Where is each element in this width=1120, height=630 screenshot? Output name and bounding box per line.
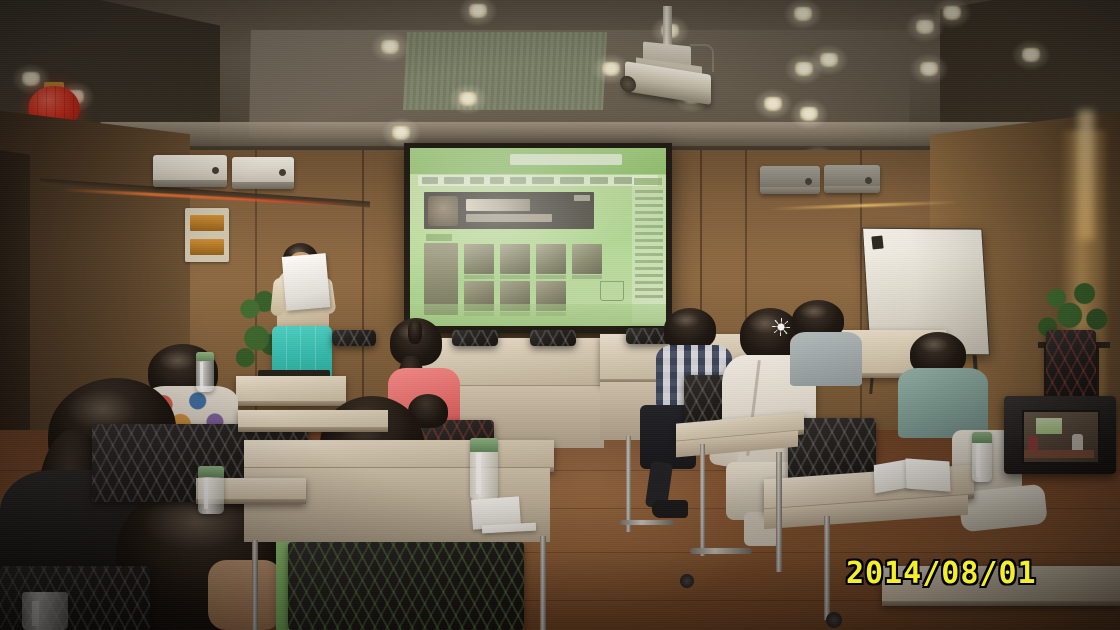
banner-headline: [466, 199, 530, 211]
desk-leg: [776, 452, 782, 572]
chair-front-green[interactable]: [288, 542, 524, 630]
water-bottle-center[interactable]: [470, 438, 498, 500]
chair-caster: [826, 612, 842, 628]
nav-item[interactable]: [444, 177, 464, 184]
camera-date-stamp: 2014/08/01: [846, 556, 1037, 591]
right-wall-light-fixture: [1078, 110, 1094, 240]
sidebar-row[interactable]: [635, 232, 663, 235]
ceiling-spot-light: [820, 53, 838, 67]
attendee-hair-partial: [408, 320, 422, 344]
nav-item[interactable]: [532, 177, 554, 184]
bottle-cap: [972, 432, 992, 443]
sidebar-row[interactable]: [635, 225, 663, 228]
sidebar-header: [634, 178, 662, 185]
camera-lcd-content-desk: [1024, 450, 1094, 458]
portrait-thumbnail[interactable]: [572, 244, 602, 274]
nav-item[interactable]: [422, 177, 438, 184]
sidebar-row[interactable]: [635, 253, 663, 256]
sidebar-row[interactable]: [635, 246, 663, 249]
website-section-title: [426, 234, 452, 241]
ceiling-spot-light: [469, 4, 487, 18]
water-bottle-back[interactable]: [196, 352, 214, 392]
ac-unit-left-1: [153, 155, 227, 187]
banner-portrait: [428, 196, 458, 226]
sidebar-row[interactable]: [635, 197, 663, 200]
ac-unit-right-2: [824, 165, 880, 193]
desk-mid-left[interactable]: [238, 410, 388, 432]
ceiling-spot-light: [392, 126, 410, 140]
sidebar-row[interactable]: [635, 295, 663, 298]
portrait-thumbnail[interactable]: [500, 244, 530, 274]
ceiling-spot-light: [764, 97, 782, 111]
nav-item[interactable]: [510, 177, 526, 184]
ceiling-spot-light: [916, 20, 934, 34]
ceiling-spot-light: [1022, 48, 1040, 62]
camera-lcd-content-screen: [1036, 418, 1062, 434]
sidebar-row[interactable]: [635, 239, 663, 242]
projector-mount-pole: [663, 6, 672, 48]
thumbnail-caption: [536, 275, 566, 279]
bottle-highlight: [476, 453, 480, 494]
bottle-highlight: [32, 601, 39, 626]
website-footer-bar: [410, 304, 666, 326]
desk-leg: [540, 536, 546, 630]
nav-item[interactable]: [590, 177, 608, 184]
attendee-teal-right-top: [898, 368, 988, 438]
ac-vent: [232, 182, 294, 189]
nav-item[interactable]: [560, 177, 584, 184]
ac-unit-right-1: [760, 166, 820, 194]
wall-sign: [185, 208, 229, 262]
sidebar-row[interactable]: [635, 190, 663, 193]
sidebar-row[interactable]: [635, 267, 663, 270]
attendee-grey-back-shirt: [790, 332, 862, 386]
nav-item[interactable]: [470, 177, 484, 184]
website-nav-bar: [418, 175, 658, 186]
bottle-highlight: [200, 362, 203, 388]
bottle-highlight: [976, 444, 979, 477]
thumbnail-caption: [500, 275, 530, 279]
attendee-front-center-neck: [208, 560, 282, 630]
bottle-highlight: [204, 478, 208, 510]
ceiling-vent-grille: [403, 32, 607, 110]
water-bottle-left[interactable]: [198, 466, 224, 514]
sidebar-row[interactable]: [635, 274, 663, 277]
presenter-papers: [282, 253, 331, 311]
chair-caster: [680, 574, 694, 588]
wall-sign-plate: [190, 239, 224, 255]
banner-tag: [574, 195, 590, 201]
ceiling-spot-light: [381, 40, 399, 54]
ceiling-spot-light: [800, 107, 818, 121]
bottle-cap: [198, 466, 224, 477]
classroom-photo: 2014/08/01: [0, 0, 1120, 630]
presenter-table[interactable]: [236, 376, 346, 406]
chair-far-right[interactable]: [1046, 330, 1096, 396]
desk-foot-rail: [620, 520, 674, 525]
ceiling-spot-light: [943, 6, 961, 20]
ceiling-spot-light: [459, 92, 477, 106]
bottle-cap: [196, 352, 214, 361]
desk-leg: [626, 436, 631, 532]
ceiling-spot-light: [920, 62, 938, 76]
desk-foot-rail: [690, 548, 752, 554]
wall-panel-seam: [860, 150, 862, 450]
water-bottle-right[interactable]: [972, 432, 992, 482]
ceiling-spot-light: [22, 72, 40, 86]
sidebar-row[interactable]: [635, 204, 663, 207]
ac-unit-left-2: [232, 157, 294, 189]
ac-vent: [760, 187, 820, 194]
portrait-thumbnail[interactable]: [536, 244, 566, 274]
open-book-right-page[interactable]: [906, 458, 951, 491]
bottle-cap: [470, 438, 498, 452]
chair-back-4[interactable]: [332, 330, 376, 346]
nav-item[interactable]: [490, 177, 504, 184]
sidebar-row[interactable]: [635, 288, 663, 291]
portrait-thumbnail[interactable]: [464, 244, 494, 274]
projection-screen: [410, 148, 666, 326]
website-search-box[interactable]: [510, 154, 622, 165]
chair-back-2[interactable]: [530, 330, 576, 346]
attendee-plaid-man-shoe: [652, 500, 688, 518]
cart-icon[interactable]: [600, 281, 624, 301]
desk-leg: [252, 540, 258, 630]
thumbnail-caption: [464, 275, 494, 279]
attendee-plaid-man-hair: [664, 308, 716, 350]
nav-item[interactable]: [614, 177, 632, 184]
sidebar-row[interactable]: [635, 211, 663, 214]
chair-back-1[interactable]: [452, 330, 498, 346]
sidebar-row[interactable]: [635, 260, 663, 263]
desk-leg: [824, 516, 830, 620]
ceiling-spot-light: [794, 7, 812, 21]
sidebar-row[interactable]: [635, 281, 663, 284]
whiteboard-clip: [871, 235, 883, 249]
flower-hair-clip: [772, 318, 790, 336]
water-bottle-foreground[interactable]: [22, 592, 68, 630]
sidebar-row[interactable]: [635, 218, 663, 221]
website-promo-banner[interactable]: [424, 192, 594, 229]
ac-vent: [824, 186, 880, 193]
ceiling-spot-light: [602, 62, 620, 76]
thumbnail-caption: [572, 275, 602, 279]
wall-sign-plate: [190, 215, 224, 231]
desk-leg: [700, 444, 705, 556]
ac-vent: [153, 180, 227, 187]
banner-subtitle: [466, 214, 552, 222]
